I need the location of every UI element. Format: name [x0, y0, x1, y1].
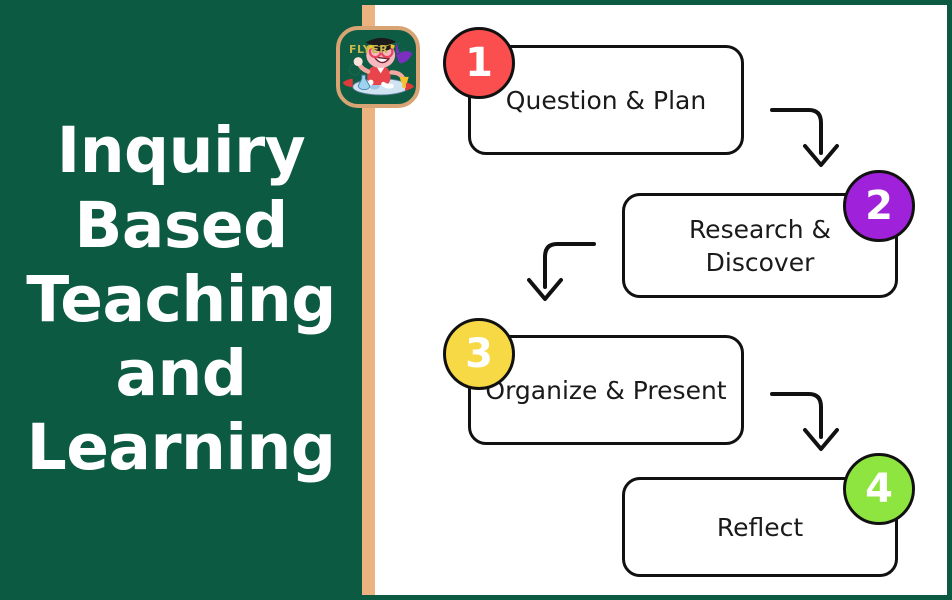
flow-step-4-label: Reflect [703, 511, 817, 544]
flow-step-3-label: Organize & Present [471, 374, 740, 407]
flow-diagram: Question & Plan 1 Research & Discover 2 [375, 5, 947, 595]
title-line-4: and [16, 337, 346, 411]
poster-canvas: Inquiry Based Teaching and Learning [0, 0, 952, 600]
flow-step-3-badge: 3 [443, 318, 515, 390]
flow-step-4-badge: 4 [843, 453, 915, 525]
flow-step-1-badge: 1 [443, 27, 515, 99]
title-line-3: Teaching [16, 263, 346, 337]
connector-arrow-1-to-2 [769, 103, 839, 175]
flow-step-3-number: 3 [465, 334, 493, 374]
logo-brand-text: FLYER [349, 43, 388, 56]
connector-arrow-2-to-3 [527, 237, 597, 309]
title-line-5: Learning [16, 411, 346, 485]
title-line-1: Inquiry [16, 114, 346, 188]
flow-step-2-number: 2 [865, 186, 893, 226]
flow-step-4-number: 4 [865, 469, 893, 509]
flow-step-1-label: Question & Plan [492, 84, 720, 117]
rocket-student-icon [340, 30, 416, 104]
flow-step-1-number: 1 [465, 43, 493, 83]
flyer-logo: FLYER [336, 26, 420, 108]
page-title: Inquiry Based Teaching and Learning [16, 114, 346, 486]
connector-arrow-3-to-4 [769, 387, 839, 459]
title-panel: Inquiry Based Teaching and Learning [0, 0, 362, 600]
title-line-2: Based [16, 189, 346, 263]
flow-step-2-badge: 2 [843, 170, 915, 242]
